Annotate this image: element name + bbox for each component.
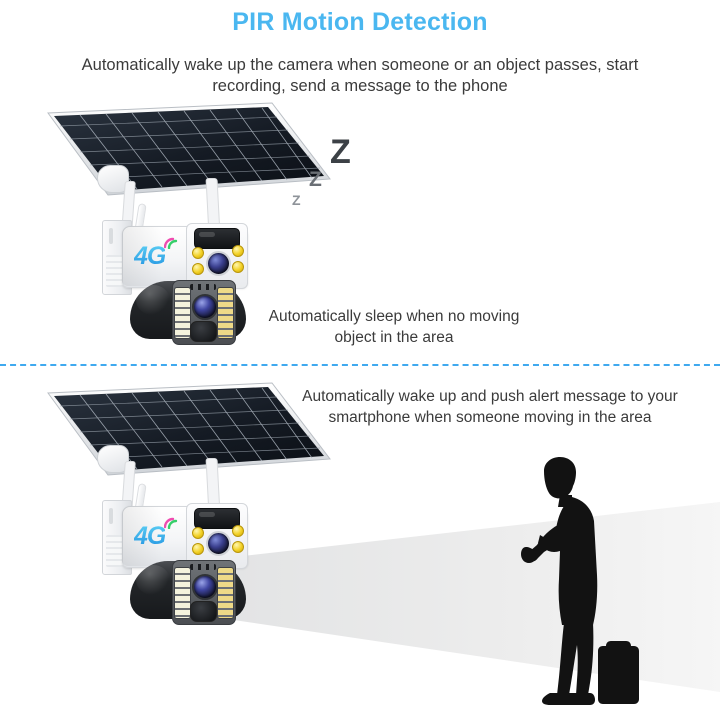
sleep-z-medium: Z xyxy=(309,169,322,190)
camera-lens-upper xyxy=(206,251,231,276)
microphone-grille xyxy=(190,564,216,570)
infographic-page: PIR Motion Detection Automatically wake … xyxy=(0,0,720,720)
page-subtitle: Automatically wake up the camera when so… xyxy=(60,55,660,97)
solar-camera-device-wake: 4G xyxy=(40,375,340,635)
dome-highlight xyxy=(136,565,170,595)
dome-highlight xyxy=(136,285,170,315)
person-silhouette xyxy=(480,455,660,705)
led-light xyxy=(232,261,244,273)
led-light xyxy=(232,525,244,537)
brand-label-4g: 4G xyxy=(134,522,165,551)
page-title: PIR Motion Detection xyxy=(0,8,720,37)
solar-panel xyxy=(40,375,340,485)
sleep-z-small: Z xyxy=(292,193,301,207)
led-array-right xyxy=(217,567,234,619)
led-light xyxy=(192,247,204,259)
sleep-z-large: Z xyxy=(330,135,351,169)
camera-lens-ptz xyxy=(192,574,218,600)
led-light xyxy=(232,245,244,257)
signal-arc-icon xyxy=(164,517,178,529)
signal-arc-icon xyxy=(164,237,178,249)
led-light xyxy=(192,263,204,275)
microphone-grille xyxy=(190,284,216,290)
light-sensor xyxy=(190,321,217,342)
led-light xyxy=(192,527,204,539)
caption-sleep-mode: Automatically sleep when no moving objec… xyxy=(268,306,520,348)
led-array-right xyxy=(217,287,234,339)
led-light xyxy=(232,541,244,553)
led-array-left xyxy=(174,287,191,339)
solar-panel xyxy=(40,95,340,205)
camera-lens-upper xyxy=(206,531,231,556)
section-divider xyxy=(0,364,720,366)
light-sensor xyxy=(190,601,217,622)
led-array-left xyxy=(174,567,191,619)
camera-lens-ptz xyxy=(192,294,218,320)
brand-label-4g: 4G xyxy=(134,242,165,271)
led-light xyxy=(192,543,204,555)
